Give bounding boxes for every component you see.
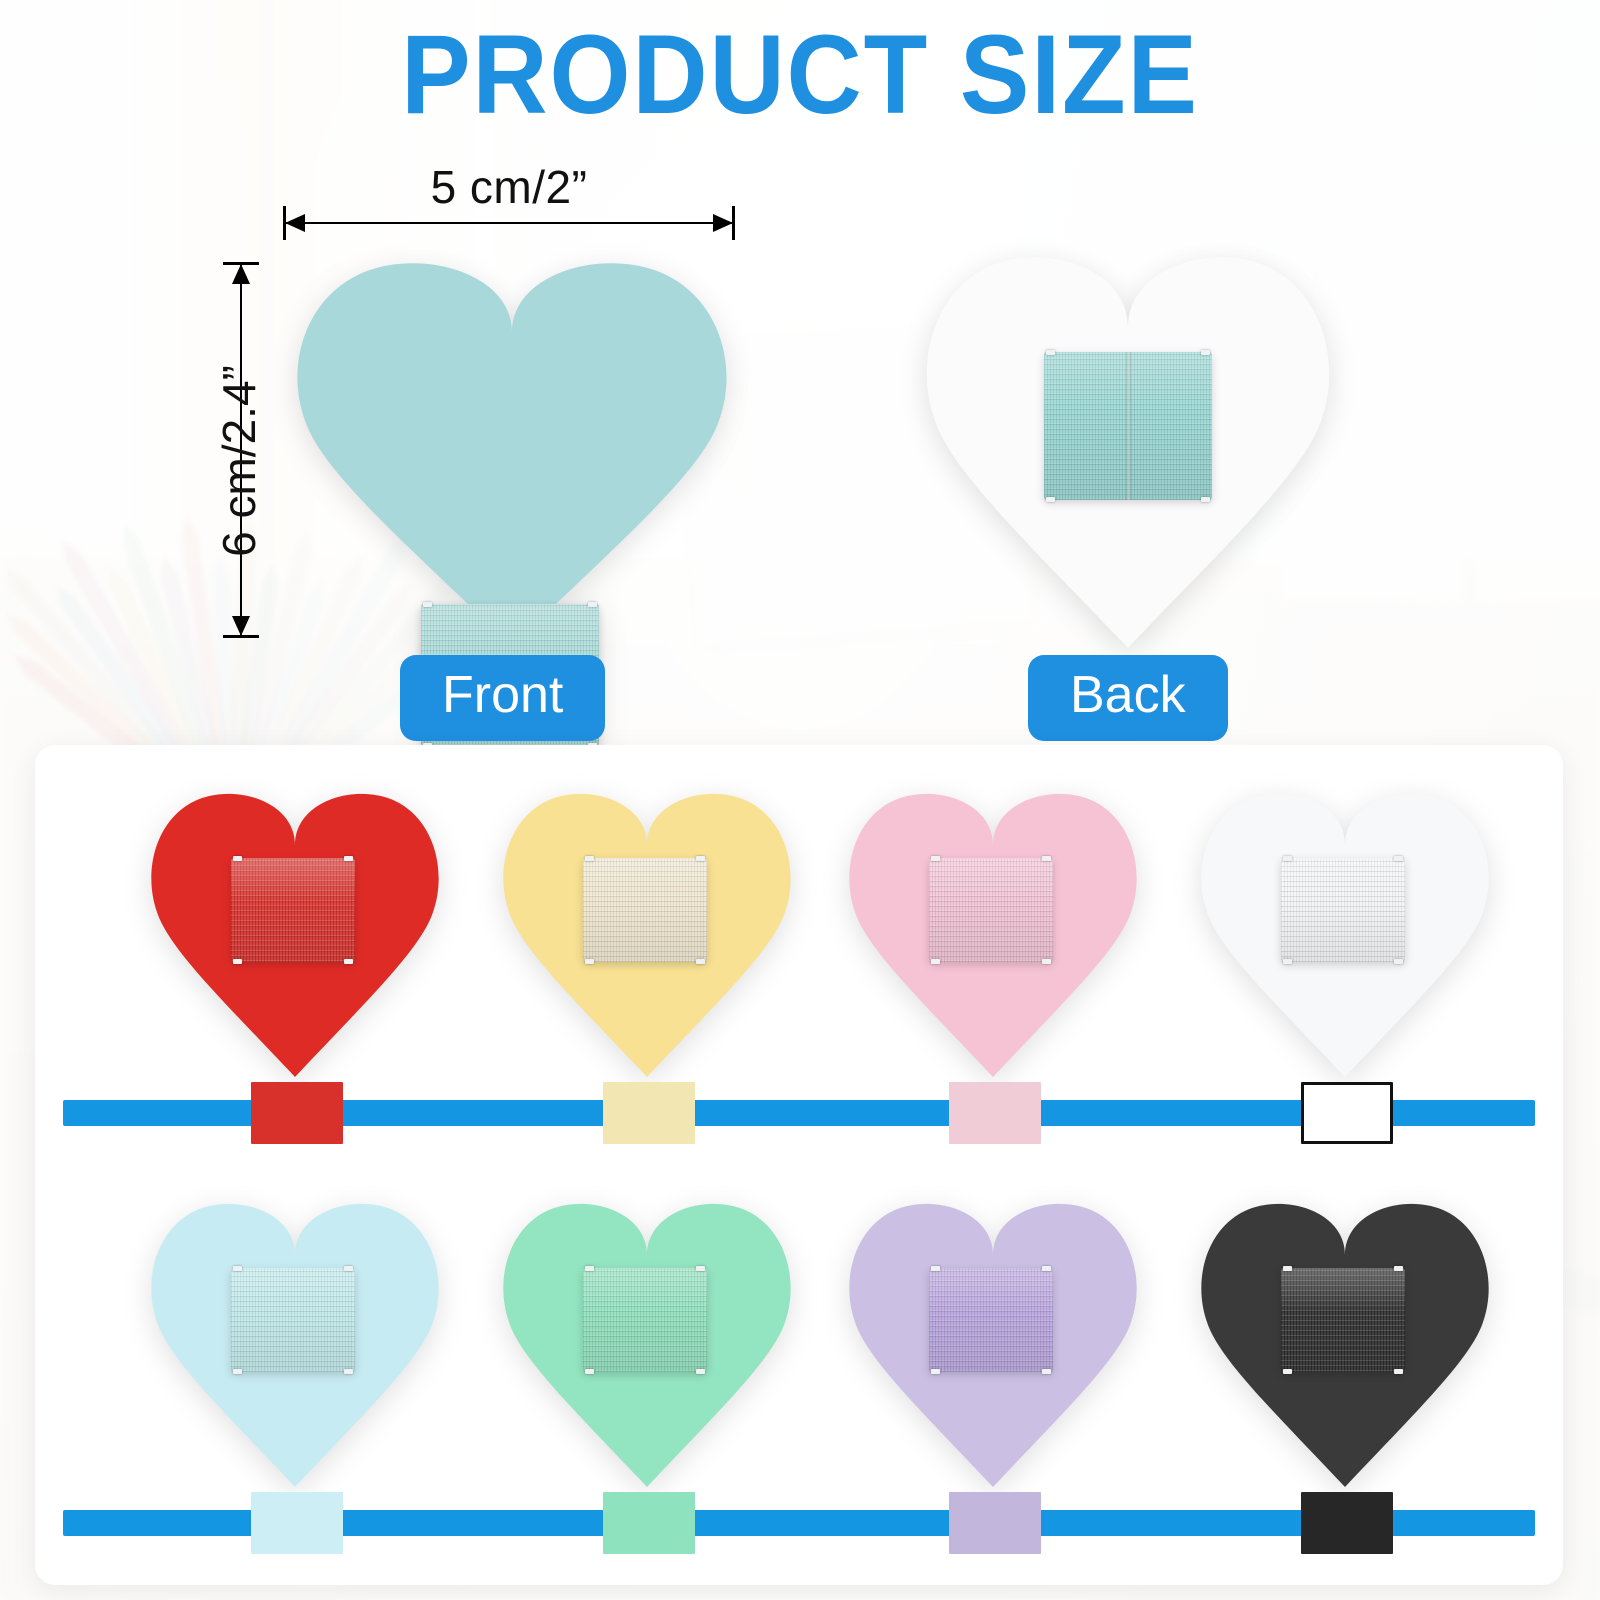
- staple-icon: [585, 1369, 594, 1374]
- staple-icon: [588, 602, 597, 607]
- staple-icon: [1201, 350, 1210, 355]
- band-clip-pink: [949, 1082, 1041, 1144]
- staple-icon: [423, 602, 432, 607]
- band-clip-red: [251, 1082, 343, 1144]
- heart-lavender: [843, 1200, 1143, 1490]
- staple-icon: [344, 1369, 353, 1374]
- staple-icon: [1042, 1266, 1051, 1271]
- staple-icon: [696, 959, 705, 964]
- page-title: PRODUCT SIZE: [56, 16, 1544, 134]
- staple-icon: [1042, 1369, 1051, 1374]
- heart-shape-icon: [288, 258, 736, 650]
- staple-icon: [233, 1266, 242, 1271]
- height-dimension-label: 6 cm/2.4”: [212, 273, 266, 649]
- width-dimension-label: 5 cm/2”: [283, 160, 735, 214]
- staple-icon: [233, 959, 242, 964]
- band-clip-light-blue: [251, 1492, 343, 1554]
- staple-icon: [931, 1369, 940, 1374]
- staple-icon: [233, 1369, 242, 1374]
- staple-icon: [931, 1266, 940, 1271]
- band-clip-lavender: [949, 1492, 1041, 1554]
- heart-yellow: [497, 790, 797, 1080]
- heart-back: [918, 252, 1338, 652]
- elastic-band: [1281, 1268, 1405, 1372]
- staple-icon: [1042, 856, 1051, 861]
- elastic-band: [231, 1268, 355, 1372]
- arrow-right-icon: [713, 214, 733, 232]
- staple-icon: [344, 856, 353, 861]
- height-dimension-arrow: 6 cm/2.4”: [240, 262, 242, 638]
- elastic-band: [1044, 352, 1212, 500]
- staple-icon: [931, 856, 940, 861]
- staple-icon: [1283, 1266, 1292, 1271]
- staple-icon: [585, 959, 594, 964]
- heart-pink: [843, 790, 1143, 1080]
- staple-icon: [1394, 1369, 1403, 1374]
- width-dimension-arrow: [283, 222, 735, 224]
- heart-light-blue: [145, 1200, 445, 1490]
- staple-icon: [585, 856, 594, 861]
- arrow-left-icon: [285, 214, 305, 232]
- staple-icon: [1042, 959, 1051, 964]
- staple-icon: [696, 856, 705, 861]
- front-badge: Front: [400, 655, 605, 741]
- heart-red: [145, 790, 445, 1080]
- elastic-band: [929, 858, 1053, 962]
- staple-icon: [1201, 497, 1210, 502]
- staple-icon: [233, 856, 242, 861]
- heart-black: [1195, 1200, 1495, 1490]
- staple-icon: [696, 1369, 705, 1374]
- elastic-band: [1281, 858, 1405, 962]
- heart-mint-green: [497, 1200, 797, 1490]
- staple-icon: [1283, 856, 1292, 861]
- staple-icon: [1283, 959, 1292, 964]
- staple-icon: [344, 1266, 353, 1271]
- elastic-band: [583, 1268, 707, 1372]
- band-clip-yellow: [603, 1082, 695, 1144]
- staple-icon: [931, 959, 940, 964]
- staple-icon: [1283, 1369, 1292, 1374]
- band-clip-black: [1301, 1492, 1393, 1554]
- back-badge: Back: [1028, 655, 1228, 741]
- staple-icon: [585, 1266, 594, 1271]
- color-variants-panel: [35, 745, 1563, 1585]
- staple-icon: [1394, 856, 1403, 861]
- staple-icon: [1046, 497, 1055, 502]
- elastic-band: [583, 858, 707, 962]
- elastic-band: [929, 1268, 1053, 1372]
- staple-icon: [344, 959, 353, 964]
- heart-white: [1195, 790, 1495, 1080]
- staple-icon: [696, 1266, 705, 1271]
- staple-icon: [1394, 959, 1403, 964]
- staple-icon: [1394, 1266, 1403, 1271]
- heart-front: [288, 258, 736, 650]
- band-clip-mint-green: [603, 1492, 695, 1554]
- elastic-band: [231, 858, 355, 962]
- staple-icon: [1046, 350, 1055, 355]
- band-clip-white: [1301, 1082, 1393, 1144]
